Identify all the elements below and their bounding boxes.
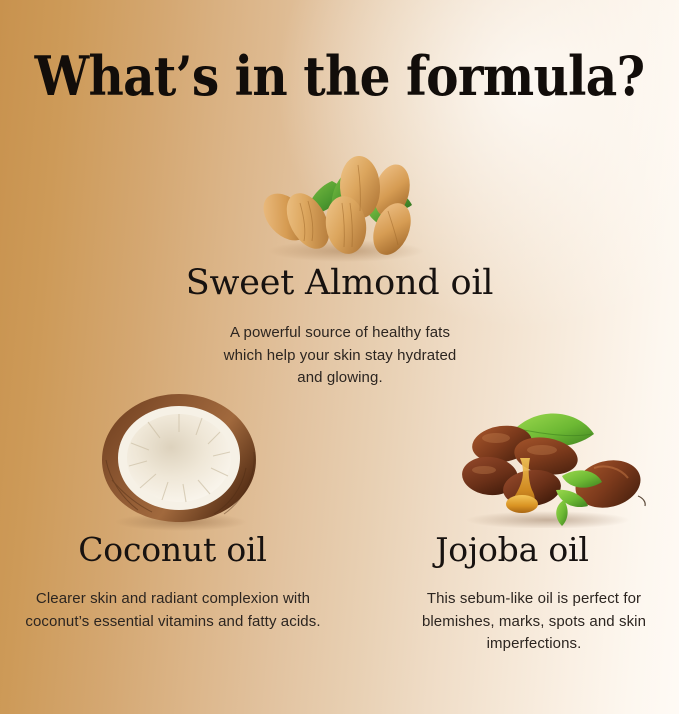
sweet-almond-heading: Sweet Almond oil	[0, 263, 679, 303]
jojoba-image	[444, 404, 652, 528]
coconut-heading: Coconut oil	[0, 530, 345, 569]
coconut-description: Clearer skin and radiant complexion with…	[25, 588, 321, 633]
page-title: What’s in the formula?	[34, 48, 645, 105]
sweet-almond-description: A powerful source of healthy fats which …	[214, 322, 466, 390]
jojoba-description: This sebum-like oil is perfect for blemi…	[398, 588, 670, 656]
jojoba-heading: Jojoba oil	[345, 530, 679, 569]
coconut-image	[86, 388, 272, 532]
infographic-canvas: What’s in the formula?	[0, 0, 679, 714]
sweet-almond-image	[246, 143, 446, 263]
